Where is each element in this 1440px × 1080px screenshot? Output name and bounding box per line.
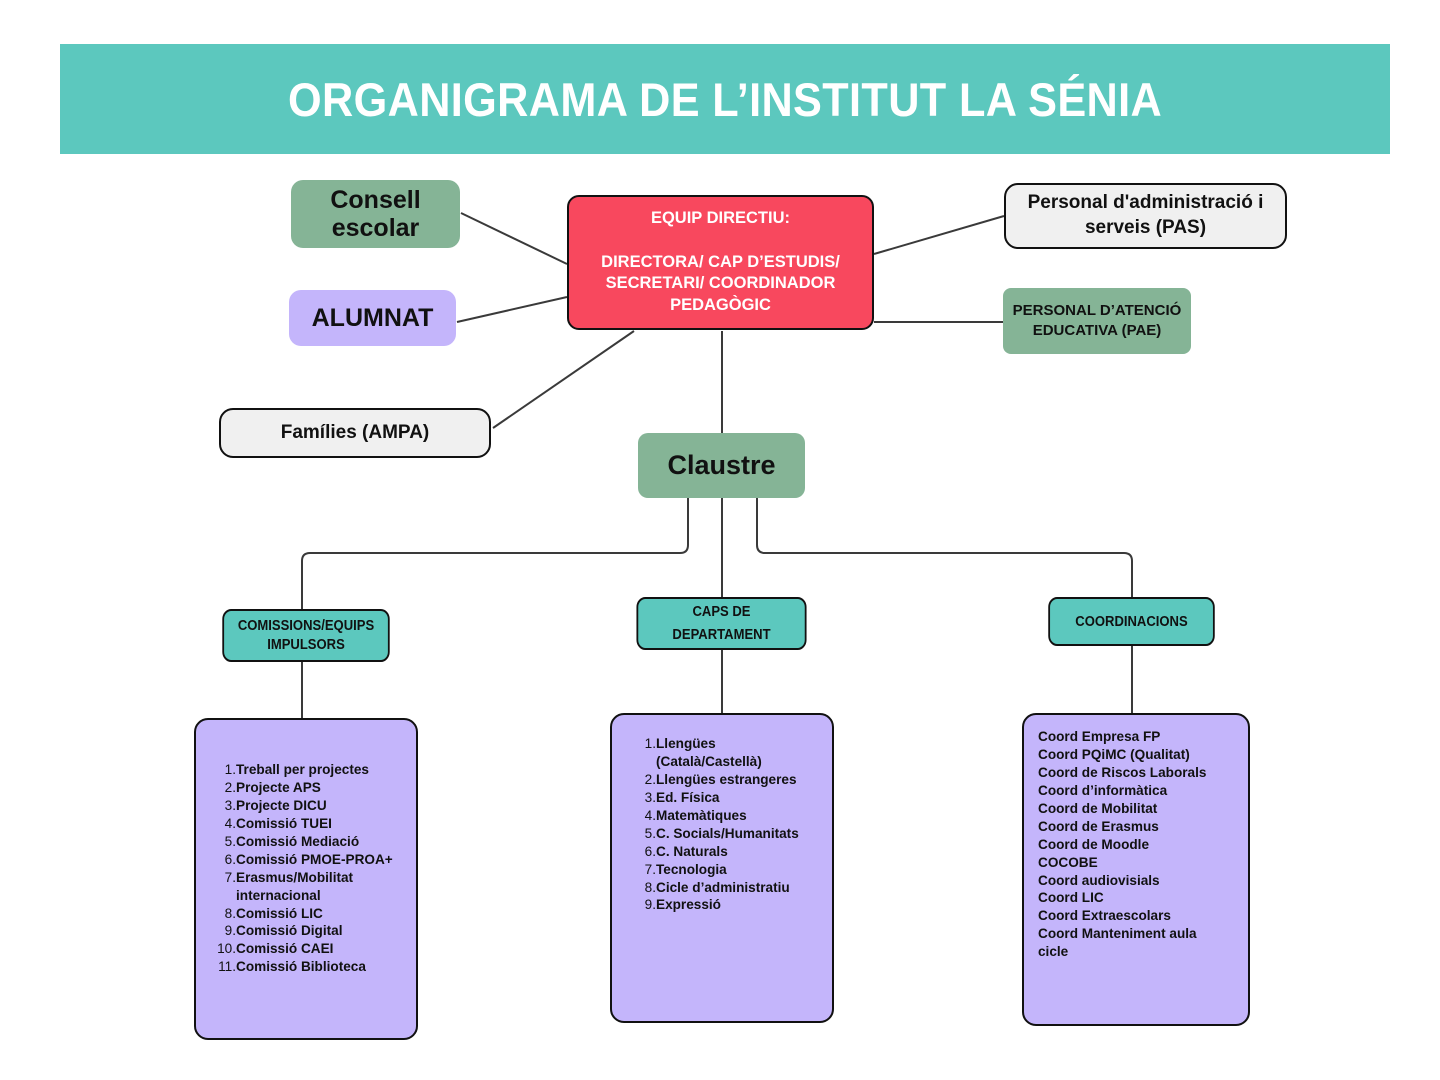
list-item-label: Erasmus/Mobilitat internacional bbox=[236, 869, 410, 905]
list-item-label: C. Naturals bbox=[656, 843, 826, 861]
node-claustre[interactable]: Claustre bbox=[638, 433, 805, 498]
list-item-number: 2. bbox=[206, 779, 236, 797]
list-item: Coord de Moodle bbox=[1038, 836, 1242, 854]
list-item-number: 5. bbox=[206, 833, 236, 851]
list-item-label: Comissió PMOE-PROA+ bbox=[236, 851, 410, 869]
list-item-number: 7. bbox=[206, 869, 236, 887]
list-item: Coord de Erasmus bbox=[1038, 818, 1242, 836]
list-item: 3.Projecte DICU bbox=[206, 797, 410, 815]
node-comissions-line1: COMISSIONS/EQUIPS bbox=[231, 617, 380, 636]
edge-equip-pas bbox=[874, 216, 1004, 254]
list-item-label: Coord Extraescolars bbox=[1038, 908, 1171, 923]
list-item: 6.Comissió PMOE-PROA+ bbox=[206, 851, 410, 869]
list-item-label: Coord Empresa FP bbox=[1038, 729, 1160, 744]
list-item: 8.Cicle d’administratiu bbox=[634, 879, 826, 897]
node-alumnat-label: ALUMNAT bbox=[297, 304, 448, 333]
node-equip-directiu-heading: EQUIP DIRECTIU: bbox=[577, 208, 864, 230]
coordinacions-list: Coord Empresa FPCoord PQiMC (Qualitat)Co… bbox=[1024, 715, 1248, 961]
list-item: 7.Tecnologia bbox=[634, 861, 826, 879]
node-pae-line1: PERSONAL D’ATENCIÓ bbox=[1011, 301, 1183, 321]
list-item-label: Projecte DICU bbox=[236, 797, 410, 815]
list-item: 3.Ed. Física bbox=[634, 789, 826, 807]
list-item-label: Coord Manteniment aula cicle bbox=[1038, 926, 1197, 959]
list-item-label: Coord de Moodle bbox=[1038, 837, 1149, 852]
list-item: Coord Empresa FP bbox=[1038, 728, 1242, 746]
list-item: 11.Comissió Biblioteca bbox=[206, 958, 410, 976]
list-item: 7.Erasmus/Mobilitat internacional bbox=[206, 869, 410, 905]
node-pae[interactable]: PERSONAL D’ATENCIÓ EDUCATIVA (PAE) bbox=[1003, 288, 1191, 354]
list-item-label: Comissió LIC bbox=[236, 905, 410, 923]
list-item-number: 1. bbox=[634, 735, 656, 753]
list-item-number: 2. bbox=[634, 771, 656, 789]
list-item-number: 6. bbox=[634, 843, 656, 861]
node-coordinacions-label: COORDINACIONS bbox=[1057, 614, 1206, 630]
list-item-number: 10. bbox=[206, 940, 236, 958]
node-equip-directiu-spacer bbox=[577, 230, 864, 252]
node-comissions-line2: IMPULSORS bbox=[231, 636, 380, 655]
list-item-label: Coord audiovisials bbox=[1038, 873, 1160, 888]
list-item-number: 9. bbox=[206, 922, 236, 940]
list-item-label: Comissió Biblioteca bbox=[236, 958, 410, 976]
node-equip-directiu-line2: SECRETARI/ COORDINADOR bbox=[577, 273, 864, 295]
list-item: 5.C. Socials/Humanitats bbox=[634, 825, 826, 843]
list-item: 8.Comissió LIC bbox=[206, 905, 410, 923]
node-equip-directiu-line3: PEDAGÒGIC bbox=[577, 295, 864, 317]
list-item: 9.Expressió bbox=[634, 896, 826, 914]
node-pas[interactable]: Personal d'administració i serveis (PAS) bbox=[1004, 183, 1287, 249]
list-item-label: Treball per projectes bbox=[236, 761, 410, 779]
list-item: 1.Treball per projectes bbox=[206, 761, 410, 779]
node-consell-escolar-line2: escolar bbox=[299, 214, 452, 242]
node-pas-line1: Personal d'administració i bbox=[1014, 191, 1277, 216]
node-coordinacions[interactable]: COORDINACIONS bbox=[1048, 597, 1215, 646]
panel-coordinacions-list: Coord Empresa FPCoord PQiMC (Qualitat)Co… bbox=[1022, 713, 1250, 1026]
node-claustre-label: Claustre bbox=[646, 450, 797, 481]
node-pae-line2: EDUCATIVA (PAE) bbox=[1011, 321, 1183, 341]
list-item: 4.Comissió TUEI bbox=[206, 815, 410, 833]
list-item-label: Comissió TUEI bbox=[236, 815, 410, 833]
list-item-label: Expressió bbox=[656, 896, 826, 914]
list-item-label: Llengües (Català/Castellà) bbox=[656, 735, 826, 771]
list-item-label: Coord PQiMC (Qualitat) bbox=[1038, 747, 1190, 762]
edge-claustre-coordinacions bbox=[757, 498, 1132, 597]
node-caps-de-departament[interactable]: CAPS DE DEPARTAMENT bbox=[636, 597, 806, 650]
list-item: Coord Extraescolars bbox=[1038, 907, 1242, 925]
node-families-ampa-label: Famílies (AMPA) bbox=[229, 422, 481, 444]
list-item-number: 3. bbox=[634, 789, 656, 807]
list-item: 2.Llengües estrangeres bbox=[634, 771, 826, 789]
list-item-label: Coord d’informàtica bbox=[1038, 783, 1167, 798]
list-item-number: 1. bbox=[206, 761, 236, 779]
list-item-label: Ed. Física bbox=[656, 789, 826, 807]
edge-consell-equip bbox=[461, 213, 567, 264]
list-item-label: Coord de Mobilitat bbox=[1038, 801, 1157, 816]
list-item-number: 4. bbox=[206, 815, 236, 833]
organigrama-canvas: ORGANIGRAMA DE L’INSTITUT LA SÉNIA Conse… bbox=[0, 0, 1440, 1080]
list-item: 10.Comissió CAEI bbox=[206, 940, 410, 958]
list-item-label: Tecnologia bbox=[656, 861, 826, 879]
node-equip-directiu[interactable]: EQUIP DIRECTIU: DIRECTORA/ CAP D’ESTUDIS… bbox=[567, 195, 874, 330]
list-item-label: Cicle d’administratiu bbox=[656, 879, 826, 897]
panel-comissions-list: 1.Treball per projectes2.Projecte APS3.P… bbox=[194, 718, 418, 1040]
list-item: 4.Matemàtiques bbox=[634, 807, 826, 825]
list-item-number: 7. bbox=[634, 861, 656, 879]
list-item-label: Llengües estrangeres bbox=[656, 771, 826, 789]
list-item: COCOBE bbox=[1038, 854, 1242, 872]
edge-alumnat-equip bbox=[457, 297, 567, 322]
list-item-number: 5. bbox=[634, 825, 656, 843]
list-item-label: Comissió CAEI bbox=[236, 940, 410, 958]
node-caps-line1: CAPS DE bbox=[645, 601, 797, 623]
list-item: 2.Projecte APS bbox=[206, 779, 410, 797]
list-item-number: 8. bbox=[206, 905, 236, 923]
node-equip-directiu-line1: DIRECTORA/ CAP D’ESTUDIS/ bbox=[577, 252, 864, 274]
page-header-banner: ORGANIGRAMA DE L’INSTITUT LA SÉNIA bbox=[60, 44, 1390, 154]
list-item-label: Comissió Digital bbox=[236, 922, 410, 940]
node-alumnat[interactable]: ALUMNAT bbox=[289, 290, 456, 346]
list-item: 1.Llengües (Català/Castellà) bbox=[634, 735, 826, 771]
list-item: Coord de Riscos Laborals bbox=[1038, 764, 1242, 782]
list-item: Coord de Mobilitat bbox=[1038, 800, 1242, 818]
edge-ampa-equip bbox=[493, 331, 634, 428]
list-item-label: COCOBE bbox=[1038, 855, 1098, 870]
list-item: 5.Comissió Mediació bbox=[206, 833, 410, 851]
node-consell-escolar[interactable]: Consell escolar bbox=[291, 180, 460, 248]
list-item-number: 4. bbox=[634, 807, 656, 825]
list-item-number: 3. bbox=[206, 797, 236, 815]
list-item-label: Projecte APS bbox=[236, 779, 410, 797]
list-item-number: 11. bbox=[206, 958, 236, 976]
panel-caps-departament-list: 1.Llengües (Català/Castellà)2.Llengües e… bbox=[610, 713, 834, 1023]
node-families-ampa[interactable]: Famílies (AMPA) bbox=[219, 408, 491, 458]
list-item-label: Comissió Mediació bbox=[236, 833, 410, 851]
caps-departament-list: 1.Llengües (Català/Castellà)2.Llengües e… bbox=[612, 715, 832, 914]
node-consell-escolar-line1: Consell bbox=[299, 186, 452, 214]
comissions-list: 1.Treball per projectes2.Projecte APS3.P… bbox=[196, 720, 416, 976]
list-item: 6.C. Naturals bbox=[634, 843, 826, 861]
list-item-label: Coord de Riscos Laborals bbox=[1038, 765, 1206, 780]
list-item-label: Coord de Erasmus bbox=[1038, 819, 1159, 834]
list-item-label: C. Socials/Humanitats bbox=[656, 825, 826, 843]
list-item-label: Coord LIC bbox=[1038, 890, 1104, 905]
list-item-number: 6. bbox=[206, 851, 236, 869]
list-item: 9.Comissió Digital bbox=[206, 922, 410, 940]
node-caps-line2: DEPARTAMENT bbox=[645, 624, 797, 646]
list-item: Coord d’informàtica bbox=[1038, 782, 1242, 800]
list-item: Coord Manteniment aula cicle bbox=[1038, 925, 1242, 961]
node-pas-line2: serveis (PAS) bbox=[1014, 216, 1277, 241]
edge-claustre-comissions bbox=[302, 498, 688, 609]
list-item-label: Matemàtiques bbox=[656, 807, 826, 825]
list-item-number: 9. bbox=[634, 896, 656, 914]
page-title: ORGANIGRAMA DE L’INSTITUT LA SÉNIA bbox=[288, 72, 1162, 127]
node-comissions-equips-impulsors[interactable]: COMISSIONS/EQUIPS IMPULSORS bbox=[222, 609, 389, 662]
list-item: Coord audiovisials bbox=[1038, 872, 1242, 890]
list-item-number: 8. bbox=[634, 879, 656, 897]
list-item: Coord LIC bbox=[1038, 889, 1242, 907]
list-item: Coord PQiMC (Qualitat) bbox=[1038, 746, 1242, 764]
